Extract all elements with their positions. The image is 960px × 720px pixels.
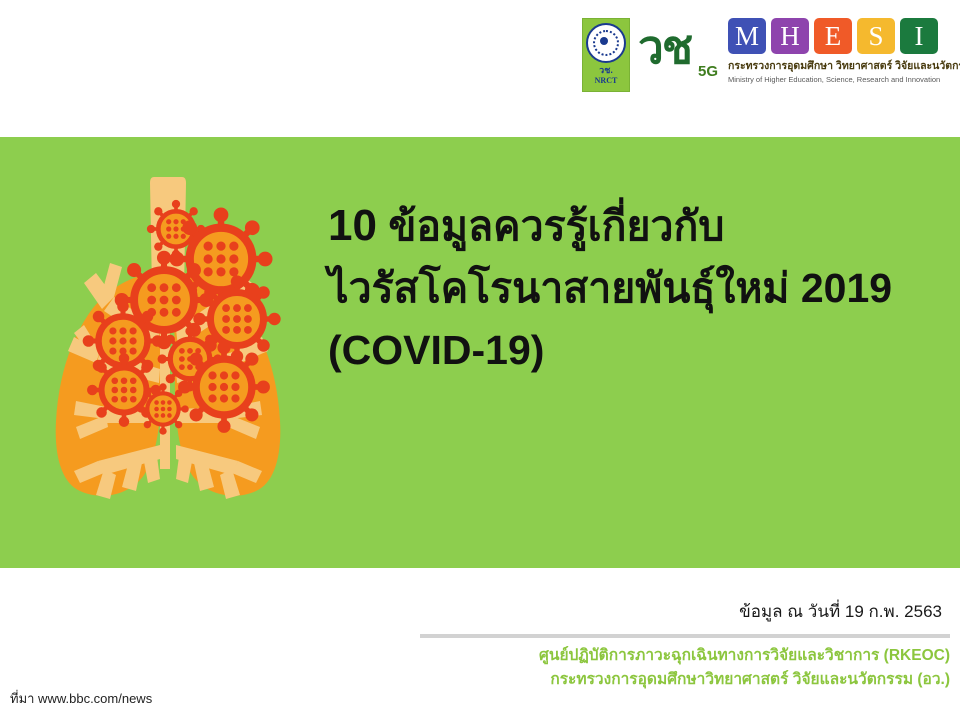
title-number: 10	[328, 201, 377, 250]
wch-5g-suffix: 5G	[698, 63, 718, 80]
wch-5g-logo: วช 5G	[638, 18, 720, 92]
footer: ข้อมูล ณ วันที่ 19 ก.พ. 2563 ศูนย์ปฏิบัต…	[0, 568, 960, 720]
mhesi-letter-m: M	[728, 18, 766, 54]
mhesi-letter-i: I	[900, 18, 938, 54]
header-logo-strip: วช. NRCT วช 5G M H E S I กระทรวงการอุดมศ…	[0, 0, 960, 137]
wch-glyph: วช	[638, 24, 691, 70]
mhesi-letter-row: M H E S I	[728, 18, 938, 54]
mhesi-letter-s: S	[857, 18, 895, 54]
nrct-english-abbr: NRCT	[595, 76, 618, 85]
logo-row: วช. NRCT วช 5G M H E S I กระทรวงการอุดมศ…	[582, 18, 948, 92]
mhesi-letter-h: H	[771, 18, 809, 54]
nrct-thai-abbr: วช.	[599, 65, 613, 76]
page-title: 10 ข้อมูลควรรู้เกี่ยวกับ ไวรัสโคโรนาสายพ…	[328, 195, 943, 381]
org-line-2: กระทรวงการอุดมศึกษาวิทยาศาสตร์ วิจัยและน…	[420, 668, 950, 692]
organization-block: ศูนย์ปฏิบัติการภาวะฉุกเฉินทางการวิจัยและ…	[420, 644, 950, 692]
mhesi-thai-name: กระทรวงการอุดมศึกษา วิทยาศาสตร์ วิจัยและ…	[728, 57, 960, 74]
title-line-3: (COVID-19)	[328, 319, 943, 381]
nrct-seal-icon	[586, 23, 626, 63]
lungs-with-virus-illustration	[18, 169, 318, 509]
title-line-2: ไวรัสโคโรนาสายพันธุ์ใหม่ 2019	[328, 257, 943, 319]
footer-divider	[420, 634, 950, 638]
nrct-logo: วช. NRCT	[582, 18, 630, 92]
mhesi-logo: M H E S I กระทรวงการอุดมศึกษา วิทยาศาสตร…	[728, 18, 948, 84]
title-line-1-rest: ข้อมูลควรรู้เกี่ยวกับ	[377, 203, 724, 249]
source-credit: ที่มา www.bbc.com/news	[10, 688, 152, 709]
title-line-1: 10 ข้อมูลควรรู้เกี่ยวกับ	[328, 195, 943, 257]
data-as-of-date: ข้อมูล ณ วันที่ 19 ก.พ. 2563	[739, 598, 942, 625]
org-line-1: ศูนย์ปฏิบัติการภาวะฉุกเฉินทางการวิจัยและ…	[420, 644, 950, 668]
hero-banner: 10 ข้อมูลควรรู้เกี่ยวกับ ไวรัสโคโรนาสายพ…	[0, 137, 960, 568]
mhesi-english-name: Ministry of Higher Education, Science, R…	[728, 75, 940, 84]
mhesi-letter-e: E	[814, 18, 852, 54]
